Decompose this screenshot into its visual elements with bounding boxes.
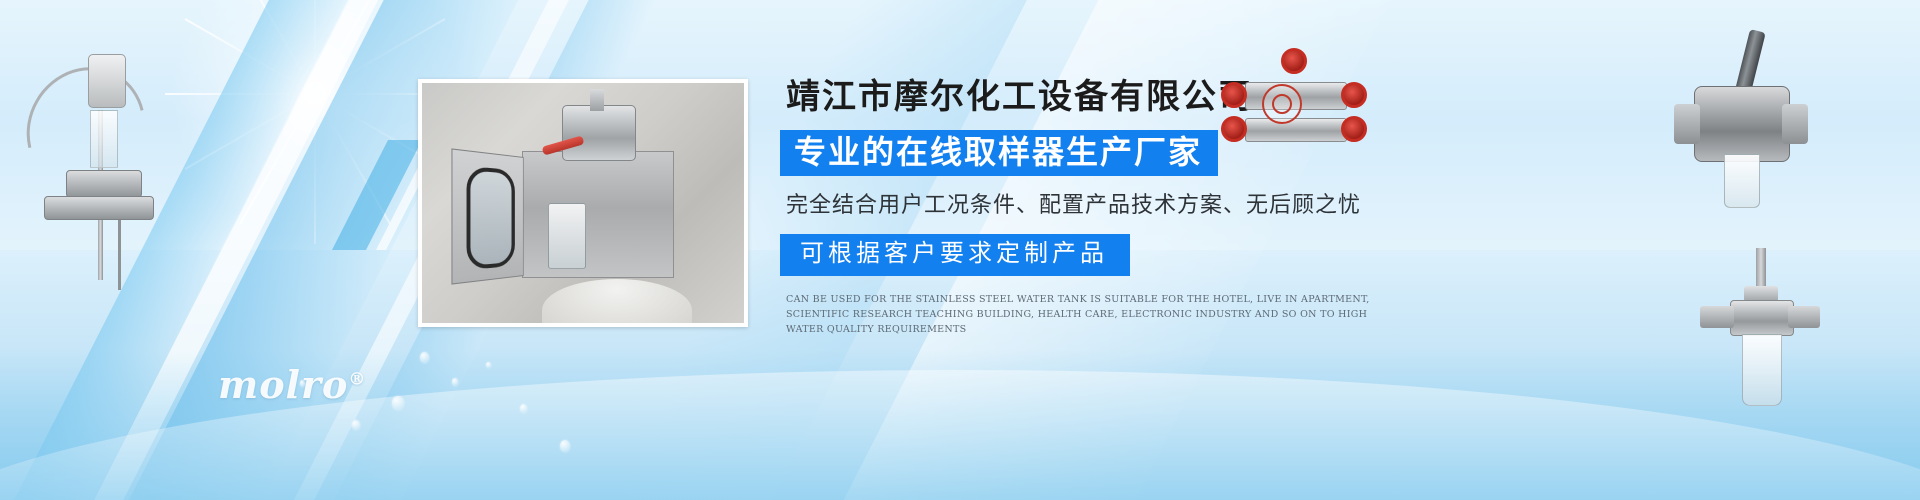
sub-headline: 完全结合用户工况条件、配置产品技术方案、无后顾之忧 [786,190,1420,220]
water-droplet [560,440,570,452]
handwheel-icon [1221,82,1247,108]
water-droplet [392,396,404,410]
right-lever-valve-image [1672,30,1812,210]
hero-banner: 靖江市摩尔化工设备有限公司 专业的在线取样器生产厂家 完全结合用户工况条件、配置… [0,0,1920,500]
company-seal-icon [1262,84,1302,124]
photo-content [422,83,744,323]
handwheel-icon [1221,116,1247,142]
pipe-arm-left [1700,306,1734,328]
water-droplet [452,378,458,386]
watermark-text: molro [218,362,348,407]
door-window [467,166,515,270]
handwheel-icon [1341,82,1367,108]
pipe-arm-right [1788,306,1820,328]
right-inline-sampler-image [1700,248,1820,418]
sampler-canister [88,54,126,108]
custom-product-cta[interactable]: 可根据客户要求定制产品 [780,234,1130,276]
handwheel-icon [1281,48,1307,74]
cabinet-door [451,148,523,284]
registered-mark: ® [348,369,366,389]
handwheel-icon [1341,116,1367,142]
center-product-photo [418,79,748,327]
manifold-body-lower [1245,118,1347,142]
headline-highlight: 专业的在线取样器生产厂家 [780,130,1218,176]
flange-left [1674,104,1700,144]
water-droplet [352,420,360,430]
valve-block-lower [44,196,154,220]
english-description: CAN BE USED FOR THE STAINLESS STEEL WATE… [786,292,1386,337]
brand-watermark: molro® [218,362,366,407]
valve-housing [1694,86,1790,162]
sight-glass [1742,334,1782,406]
mounting-rod [118,220,121,290]
valve-block-upper [66,170,142,198]
left-product-image [10,30,180,280]
top-valve-assembly [562,105,636,161]
valve-stem [590,89,604,111]
flange-right [1782,104,1808,144]
sample-bottle [548,203,586,269]
water-droplet [520,404,527,413]
sampler-body [1730,300,1794,336]
pedestal-base [542,279,692,323]
sight-glass [90,110,118,168]
sampler-cabinet-body [522,151,674,278]
water-droplet [486,362,491,368]
water-droplet [420,352,429,363]
sight-glass [1724,154,1760,208]
